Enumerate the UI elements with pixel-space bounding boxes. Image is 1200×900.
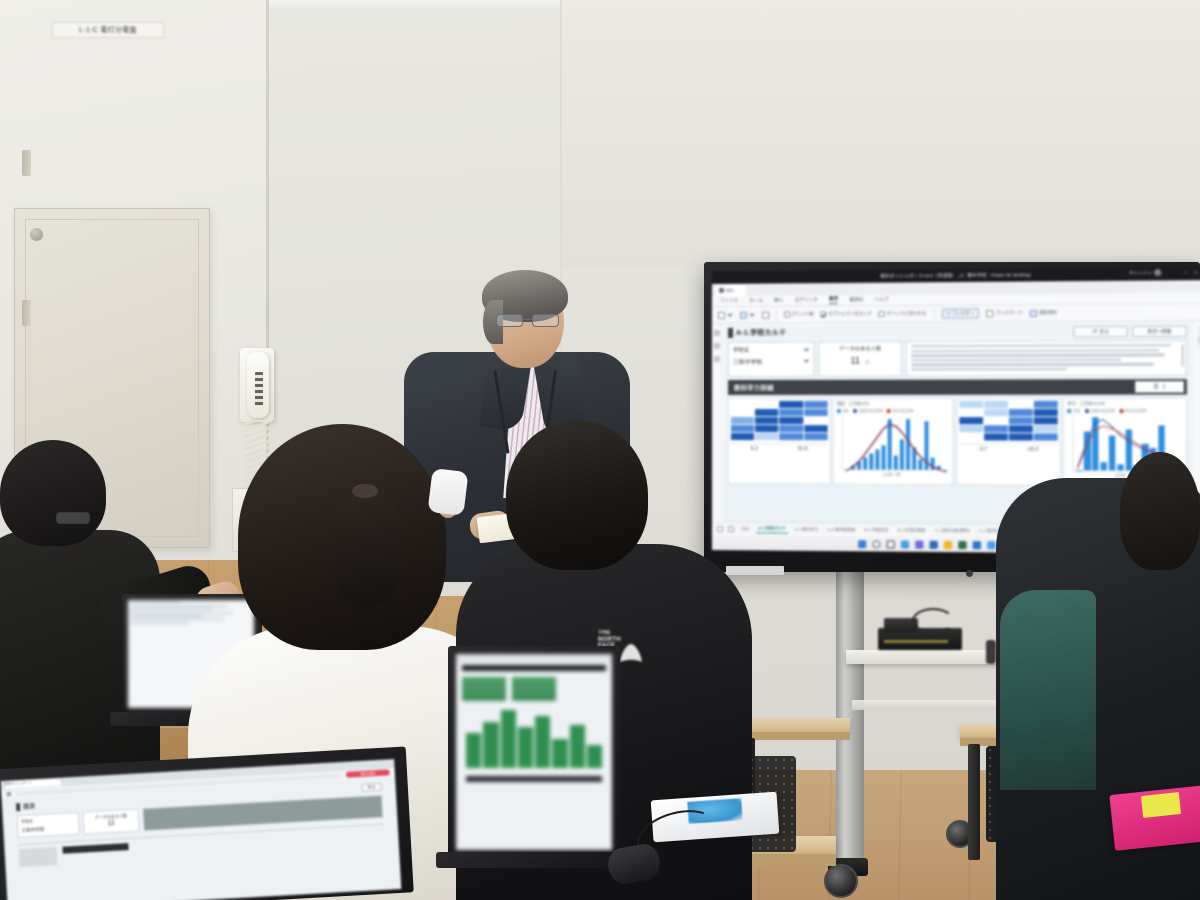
chart-bar bbox=[930, 458, 935, 470]
matrix-cell bbox=[1009, 418, 1033, 425]
model-view-icon[interactable] bbox=[714, 356, 720, 362]
laptop-chart-bar bbox=[501, 710, 516, 768]
ribbon-tab-help[interactable]: ヘルプ bbox=[875, 296, 889, 303]
cart-caster-front bbox=[824, 864, 858, 898]
pager-label: 頁 bbox=[1153, 384, 1158, 391]
sign-in-label: サインイン bbox=[1129, 270, 1152, 276]
chart-bar bbox=[869, 454, 874, 470]
legend-item: 全国平均正答率 bbox=[1085, 408, 1116, 413]
left-view-rail[interactable] bbox=[712, 324, 723, 550]
laptop-thumb bbox=[19, 847, 58, 867]
filters-pane-toggle[interactable]: ▽ フィルター bbox=[941, 308, 979, 318]
back-button[interactable]: ↺ 戻る bbox=[1073, 326, 1127, 338]
matrix-cell bbox=[804, 401, 827, 408]
matrix-cell bbox=[780, 409, 803, 416]
cabinet-lock-icon bbox=[30, 228, 43, 241]
title-accent-mark bbox=[16, 803, 20, 811]
chart-bar bbox=[918, 460, 923, 470]
legend-label: 本校 bbox=[842, 408, 849, 413]
theme-dropdown[interactable] bbox=[740, 311, 755, 318]
laptop-center-screen bbox=[456, 654, 612, 850]
laptop-center-bar-chart bbox=[466, 710, 602, 768]
attendee-center-head bbox=[506, 420, 648, 570]
matrix-cell bbox=[755, 401, 778, 408]
matrix-cell bbox=[755, 426, 778, 433]
chart-bar bbox=[1117, 465, 1124, 471]
laptop-center-base bbox=[436, 852, 632, 868]
mail-icon[interactable] bbox=[930, 540, 938, 548]
search-icon[interactable] bbox=[872, 540, 880, 548]
north-face-logo-icon bbox=[616, 642, 646, 664]
legend-swatch bbox=[853, 409, 857, 413]
laptop-dark-chip bbox=[62, 843, 128, 854]
attendee-left-glasses bbox=[56, 512, 90, 524]
legend-label: 全国平均正答率 bbox=[1090, 408, 1115, 413]
attendee-white-ponytail bbox=[336, 492, 398, 608]
display-brand-plate bbox=[726, 566, 784, 575]
matrix-cell bbox=[780, 426, 803, 433]
ribbon-tab-file[interactable]: ファイル bbox=[720, 297, 738, 304]
chart-bar bbox=[900, 440, 905, 470]
legend-item: 全国平均正答率 bbox=[853, 408, 883, 413]
page-tab-index[interactable]: 目次 bbox=[739, 526, 751, 533]
green-card bbox=[512, 677, 556, 701]
chart-bar bbox=[845, 469, 850, 470]
minimize-icon[interactable]: – bbox=[1184, 270, 1187, 276]
legend-swatch bbox=[1085, 409, 1089, 413]
title-accent-mark bbox=[728, 328, 733, 338]
desk-leg bbox=[968, 744, 980, 860]
ribbon-tab-modeling[interactable]: モデリング bbox=[795, 297, 818, 304]
slicer-field-label: 学校名 bbox=[733, 346, 749, 354]
document-title: 教科ダッシュボードv3.0（完成版）_1）和中学校 - Power BI Des… bbox=[880, 272, 1031, 279]
desc-line bbox=[911, 344, 1170, 347]
chart-bar bbox=[894, 456, 899, 470]
glasses-bridge bbox=[523, 319, 532, 320]
attendee-left-head bbox=[0, 440, 106, 546]
matrix-cell bbox=[780, 401, 803, 408]
matrix-cell bbox=[804, 426, 827, 433]
ribbon-tab-view[interactable]: 表示 bbox=[829, 296, 838, 304]
page-tab-subject-ability[interactable]: A-2.教科学力 bbox=[793, 526, 821, 533]
page-tab-questionnaire[interactable]: A-3.質問紙調査 bbox=[826, 526, 858, 533]
desc-line bbox=[911, 354, 1165, 357]
hair-tie bbox=[352, 484, 378, 498]
matrix-cell bbox=[1009, 434, 1033, 441]
chart-bar bbox=[1092, 418, 1099, 471]
store-icon[interactable] bbox=[973, 541, 981, 549]
chart-bar bbox=[881, 446, 886, 470]
section-title: 教科学力詳細 bbox=[731, 383, 774, 392]
matrix-cell bbox=[1009, 426, 1033, 433]
matrix-cell bbox=[804, 434, 827, 441]
laptop-front-screen[interactable]: 教科ダッシュボード 更新を確認 目次 戻る 学校名 三和中学校 データのある人数… bbox=[1, 759, 402, 900]
page-tab-class-status[interactable]: B-1.学級状況 bbox=[862, 527, 890, 534]
matrix-cell bbox=[1034, 434, 1058, 441]
matrix-cell bbox=[984, 409, 1008, 416]
matrix-cell bbox=[959, 418, 983, 425]
japanese-distribution-chart[interactable]: 国語：正答数分布 本校 全国平均正答率 県平均正答率 bbox=[833, 398, 953, 485]
save-quick-button[interactable]: 保存 bbox=[716, 285, 746, 296]
chevron-down-icon[interactable] bbox=[803, 360, 809, 363]
matrix-cell bbox=[804, 409, 827, 416]
kpi-unit: 人 bbox=[865, 360, 870, 366]
account-avatar[interactable] bbox=[1154, 269, 1161, 276]
display-cart-column-inner bbox=[852, 570, 864, 862]
goto-index-label: 目次へ移動 bbox=[1147, 328, 1171, 334]
chart-bar bbox=[1076, 470, 1083, 471]
sign-in-control[interactable]: サインイン bbox=[1129, 269, 1162, 276]
back-button-label: 戻る bbox=[1099, 329, 1109, 335]
description-scrollbar[interactable] bbox=[1182, 344, 1184, 367]
filter-funnel-icon: ▽ bbox=[947, 311, 950, 317]
legend-swatch bbox=[1068, 409, 1072, 413]
pager-value: 1 bbox=[1163, 384, 1166, 390]
kpi-value: 11 bbox=[850, 355, 859, 365]
matrix-cell bbox=[731, 425, 754, 432]
slicer-field-row: 学校名 bbox=[733, 346, 809, 354]
report-view-icon[interactable] bbox=[714, 330, 720, 336]
pink-case-label bbox=[1141, 792, 1181, 818]
desc-line bbox=[911, 368, 1067, 371]
laptop-center-footer bbox=[466, 776, 602, 782]
green-card bbox=[462, 677, 506, 701]
laptop-chart-bar bbox=[535, 716, 550, 768]
section-pager[interactable]: 頁 1 bbox=[1135, 382, 1184, 393]
slicer-selected-value: 三和中学校 bbox=[733, 357, 762, 366]
description-textbox bbox=[906, 340, 1187, 377]
kpi-label: データのある人数 bbox=[824, 345, 897, 352]
glasses-lens-left bbox=[496, 314, 523, 327]
japanese-visual-pane: 5.2 51.9 国語：正答数分布 本校 全国平均正答率 県 bbox=[728, 398, 953, 485]
ribbon-tab-home[interactable]: ホーム bbox=[749, 297, 763, 304]
matrix-grid bbox=[731, 401, 828, 440]
goto-index-button[interactable]: 目次へ移動 bbox=[1132, 326, 1187, 338]
chart-bar bbox=[875, 450, 880, 470]
undo-icon: ↺ bbox=[1092, 328, 1097, 335]
matrix-cell bbox=[1034, 418, 1058, 425]
legend-swatch bbox=[887, 409, 891, 413]
table-view-icon[interactable] bbox=[714, 343, 720, 349]
legend-swatch bbox=[1119, 409, 1123, 413]
matrix-cell bbox=[1034, 409, 1058, 416]
legend-label: 全国平均正答率 bbox=[859, 408, 883, 413]
matrix-cell bbox=[780, 434, 803, 441]
gridlines-checkbox[interactable]: グリッド線 bbox=[784, 311, 813, 317]
laptop-slicer-label: 学校名 bbox=[21, 816, 75, 825]
page-view-dropdown[interactable] bbox=[718, 311, 733, 318]
chart-bar bbox=[857, 462, 862, 470]
save-icon bbox=[719, 288, 724, 293]
page-view-icon bbox=[718, 311, 725, 318]
report-action-buttons[interactable]: ↺ 戻る 目次へ移動 bbox=[1073, 326, 1187, 338]
display-power-led bbox=[966, 570, 973, 577]
chart-bar bbox=[1084, 432, 1091, 471]
filter-card-row: 学校名 三和中学校 データのある人数 bbox=[728, 340, 1187, 377]
chart-bar bbox=[1101, 463, 1108, 471]
slicer-value-row[interactable]: 三和中学校 bbox=[733, 357, 809, 366]
selection-label: 選択項目 bbox=[1039, 310, 1057, 316]
checkbox-icon bbox=[879, 311, 885, 317]
matrix-cell bbox=[804, 418, 827, 425]
page-tab-yearly-subject[interactable]: C-1.経年比較(教科) bbox=[933, 527, 972, 534]
filters-label: フィルター bbox=[952, 310, 974, 316]
back-icon[interactable] bbox=[6, 791, 11, 796]
matrix-cell bbox=[755, 409, 778, 416]
chart-title: 国語：正答数分布 bbox=[837, 401, 950, 407]
lock-objects-label: オブジェクトをロック bbox=[828, 311, 872, 317]
matrix-footer-value: -10.2 bbox=[1027, 447, 1039, 453]
laptop-slicer-value: 三和中学校 bbox=[21, 825, 75, 834]
display-cart-shelf-lower bbox=[852, 700, 1004, 710]
laptop-chart-bar bbox=[483, 722, 498, 768]
snap-to-grid-label: グリッドに合わせる bbox=[887, 311, 927, 317]
wall-upper-right bbox=[560, 0, 1200, 270]
laptop-center-toolbar bbox=[456, 654, 612, 662]
legend-label: 県平均正答率 bbox=[1125, 408, 1146, 413]
matrix-cell bbox=[959, 426, 983, 433]
laptop-slicer[interactable]: 学校名 三和中学校 bbox=[17, 812, 80, 838]
presenter-glasses bbox=[496, 314, 562, 328]
matrix-cell bbox=[959, 434, 983, 441]
matrix-cell bbox=[984, 401, 1008, 408]
cabinet-hinge-top bbox=[22, 150, 31, 176]
chart-bar bbox=[924, 422, 929, 471]
maximize-icon[interactable]: □ bbox=[1194, 270, 1197, 276]
legend-label: 本校 bbox=[1073, 408, 1080, 413]
ribbon-tab-optimize[interactable]: 最適化 bbox=[849, 296, 863, 303]
data-count-kpi-card: データのある人数 11 人 bbox=[819, 341, 902, 377]
ribbon-divider bbox=[776, 309, 777, 320]
laptop-center-banner bbox=[462, 665, 606, 671]
classroom-scene: L-1-C 電灯分電盤 教科ダッシュボードv3.0（完成版）_1）和中学校 - … bbox=[0, 0, 1200, 900]
save-label: 保存 bbox=[726, 287, 734, 293]
matrix-footer-value: 5.2 bbox=[751, 447, 758, 453]
laptop-chart-bar bbox=[466, 733, 481, 768]
matrix-footer-value: -3.7 bbox=[978, 447, 987, 453]
laptop-back-button[interactable]: 戻る bbox=[361, 782, 381, 791]
chart-bar bbox=[851, 466, 856, 470]
chart-bar bbox=[887, 420, 892, 471]
matrix-cell bbox=[731, 409, 754, 416]
matrix-cell bbox=[755, 417, 778, 424]
matrix-cell bbox=[731, 433, 754, 440]
laptop-kpi-card: データのある人数 11 bbox=[83, 808, 140, 834]
bookmarks-label: ブックマーク bbox=[996, 310, 1023, 316]
start-icon[interactable] bbox=[858, 540, 866, 548]
bookmark-icon bbox=[987, 310, 994, 317]
selection-pane-toggle[interactable]: 選択項目 bbox=[1030, 309, 1057, 316]
settings-icon[interactable] bbox=[958, 540, 966, 548]
legend-item: 県平均正答率 bbox=[887, 408, 913, 413]
page-tab-retention[interactable]: B-2.学習定着度 bbox=[895, 527, 927, 534]
matrix-grid bbox=[959, 401, 1058, 441]
intercom-keypad bbox=[255, 372, 263, 406]
desc-line bbox=[911, 349, 1159, 352]
gridlines-label: グリッド線 bbox=[792, 311, 814, 317]
duplicate-page-icon[interactable] bbox=[728, 526, 734, 532]
matrix-cell bbox=[1009, 401, 1033, 408]
snap-to-grid-checkbox[interactable]: グリッドに合わせる bbox=[879, 311, 926, 317]
ribbon-tab-insert[interactable]: 挿入 bbox=[774, 297, 783, 304]
chart-legend: 本校 全国平均正答率 県平均正答率 bbox=[1068, 408, 1184, 413]
legend-item: 県平均正答率 bbox=[1119, 408, 1146, 413]
chart-legend: 本校 全国平均正答率 県平均正答率 bbox=[837, 408, 950, 413]
visuals-row: 5.2 51.9 国語：正答数分布 本校 全国平均正答率 県 bbox=[728, 398, 1187, 487]
mobile-layout-button[interactable] bbox=[762, 311, 769, 318]
matrix-cell bbox=[1034, 426, 1058, 433]
matrix-footer-value: 51.9 bbox=[798, 447, 808, 453]
legend-item: 本校 bbox=[837, 408, 849, 413]
legend-item: 本校 bbox=[1068, 408, 1081, 413]
chart-bar bbox=[1109, 436, 1116, 471]
matrix-cell bbox=[755, 434, 778, 441]
matrix-cell bbox=[731, 417, 754, 424]
math-matrix-visual[interactable]: -3.7 -10.2 bbox=[956, 398, 1061, 486]
filters-pane-label: フィルター bbox=[1196, 327, 1200, 350]
laptop-chart-bar bbox=[552, 739, 567, 768]
face-mask bbox=[427, 468, 468, 516]
window-controls[interactable]: – □ bbox=[1184, 270, 1198, 276]
matrix-footer: 5.2 51.9 bbox=[731, 444, 828, 453]
display-cart-shelf bbox=[846, 650, 1006, 664]
ribbon-divider bbox=[933, 308, 934, 319]
matrix-cell bbox=[959, 409, 983, 416]
chevron-down-icon bbox=[727, 313, 733, 316]
chart-plot-area bbox=[842, 415, 950, 472]
selection-icon bbox=[1030, 310, 1037, 317]
matrix-cell bbox=[959, 401, 983, 408]
attendee-right-inner-layer bbox=[1000, 590, 1096, 790]
chart-bar bbox=[906, 420, 911, 471]
chat-icon[interactable] bbox=[915, 540, 923, 548]
matrix-cell bbox=[1009, 409, 1033, 416]
legend-label: 県平均正答率 bbox=[893, 408, 914, 413]
stylus-pen bbox=[986, 640, 996, 664]
matrix-cell bbox=[984, 426, 1008, 433]
theme-icon bbox=[740, 311, 747, 318]
file-explorer-icon[interactable] bbox=[944, 540, 952, 548]
matrix-cell bbox=[731, 401, 754, 408]
av-receiver-strip bbox=[884, 640, 948, 643]
chart-bar bbox=[943, 470, 948, 471]
chart-title: 数学：正答数の分布 bbox=[1068, 401, 1184, 407]
matrix-footer: -3.7 -10.2 bbox=[959, 444, 1058, 453]
attendee-far-right-head bbox=[1120, 452, 1200, 570]
page-tab-school-karte[interactable]: A-1.学校カルテ bbox=[756, 525, 788, 533]
laptop-chart-bar bbox=[570, 725, 585, 769]
section-header-bar: 教科学力詳細 頁 1 bbox=[728, 380, 1187, 396]
matrix-cell bbox=[984, 418, 1008, 425]
matrix-cell bbox=[1034, 401, 1058, 408]
chart-bars bbox=[843, 415, 950, 471]
matrix-cell bbox=[984, 434, 1008, 441]
coiled-cable bbox=[912, 608, 954, 634]
page-title: A-1.学校カルテ bbox=[736, 328, 786, 338]
chart-bar bbox=[863, 458, 868, 470]
laptop-chart-bar bbox=[587, 745, 602, 768]
laptop-center-cards bbox=[456, 674, 612, 704]
chart-bar bbox=[912, 448, 917, 470]
chevron-down-icon[interactable] bbox=[803, 348, 809, 351]
chart-bar bbox=[1125, 430, 1132, 471]
checkbox-icon bbox=[784, 312, 790, 318]
school-name-slicer[interactable]: 学校名 三和中学校 bbox=[728, 342, 814, 378]
legend-swatch bbox=[837, 409, 841, 413]
add-page-icon[interactable] bbox=[717, 526, 723, 532]
cabinet-hinge-bottom bbox=[22, 300, 31, 326]
checkbox-checked-icon bbox=[821, 312, 827, 318]
matrix-cell bbox=[780, 417, 803, 424]
kpi-value-row: 11 人 bbox=[824, 355, 897, 365]
japanese-matrix-visual[interactable]: 5.2 51.9 bbox=[728, 398, 831, 485]
mobile-layout-icon bbox=[762, 311, 769, 318]
glasses-lens-right bbox=[532, 314, 559, 327]
chevron-down-icon bbox=[749, 313, 755, 316]
widgets-icon[interactable] bbox=[901, 540, 909, 548]
chart-bar bbox=[937, 466, 942, 470]
laptop-chart-bar bbox=[518, 727, 533, 768]
cabinet-label: L-1-C 電灯分電盤 bbox=[52, 22, 164, 38]
powerbi-icon[interactable] bbox=[987, 541, 995, 549]
laptop-report-title: 目次 bbox=[23, 801, 35, 811]
task-view-icon[interactable] bbox=[887, 540, 895, 548]
lock-objects-checkbox[interactable]: オブジェクトをロック bbox=[821, 311, 872, 317]
desc-line bbox=[911, 358, 1121, 361]
bookmarks-pane-toggle[interactable]: ブックマーク bbox=[987, 310, 1023, 317]
page-title-group: A-1.学校カルテ bbox=[728, 328, 786, 338]
report-header: A-1.学校カルテ ↺ 戻る 目次へ移動 bbox=[728, 326, 1187, 339]
desc-line bbox=[911, 363, 1154, 366]
chart-x-axis-label: 正答数（問） bbox=[837, 472, 950, 478]
